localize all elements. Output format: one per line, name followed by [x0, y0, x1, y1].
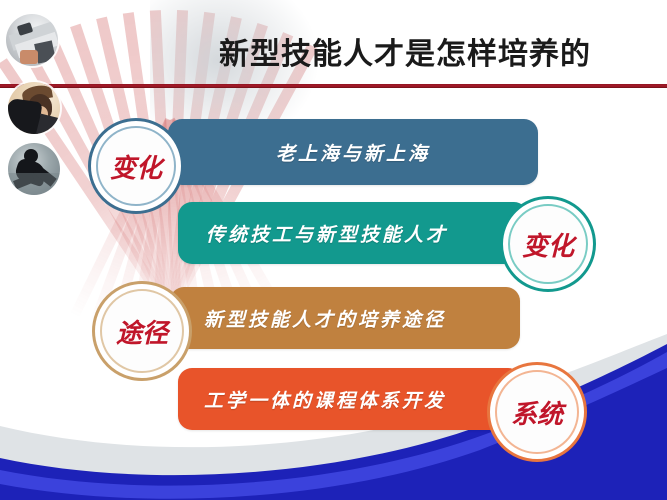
- presentation-slide: 新型技能人才是怎样培养的 老上海与新上海 传统技工与新型技能人才 新型技能人才的…: [0, 0, 667, 500]
- seal-badge-4[interactable]: 系统: [487, 362, 587, 462]
- title-divider-rule: [0, 84, 667, 88]
- workshop-machinery-photo: [6, 14, 58, 66]
- agenda-bar-2-label: 传统技工与新型技能人才: [206, 220, 448, 247]
- training-person-photo: [8, 82, 60, 134]
- page-title: 新型技能人才是怎样培养的: [190, 22, 620, 80]
- worker-silhouette-photo: [8, 143, 60, 195]
- agenda-bar-2[interactable]: 传统技工与新型技能人才: [178, 202, 528, 264]
- agenda-bar-4[interactable]: 工学一体的课程体系开发: [178, 368, 522, 430]
- agenda-bar-3[interactable]: 新型技能人才的培养途径: [170, 287, 520, 349]
- agenda-bar-1-label: 老上海与新上海: [276, 139, 430, 166]
- seal-badge-3[interactable]: 途径: [92, 281, 192, 381]
- seal-badge-2[interactable]: 变化: [500, 196, 596, 292]
- agenda-bar-3-label: 新型技能人才的培养途径: [204, 305, 446, 332]
- agenda-bar-4-label: 工学一体的课程体系开发: [204, 386, 446, 413]
- seal-badge-1[interactable]: 变化: [88, 118, 184, 214]
- seal-badge-2-label: 变化: [522, 226, 574, 263]
- seal-badge-1-label: 变化: [110, 148, 162, 185]
- agenda-bar-1[interactable]: 老上海与新上海: [168, 119, 538, 185]
- seal-badge-3-label: 途径: [116, 313, 168, 350]
- seal-badge-4-label: 系统: [511, 394, 563, 431]
